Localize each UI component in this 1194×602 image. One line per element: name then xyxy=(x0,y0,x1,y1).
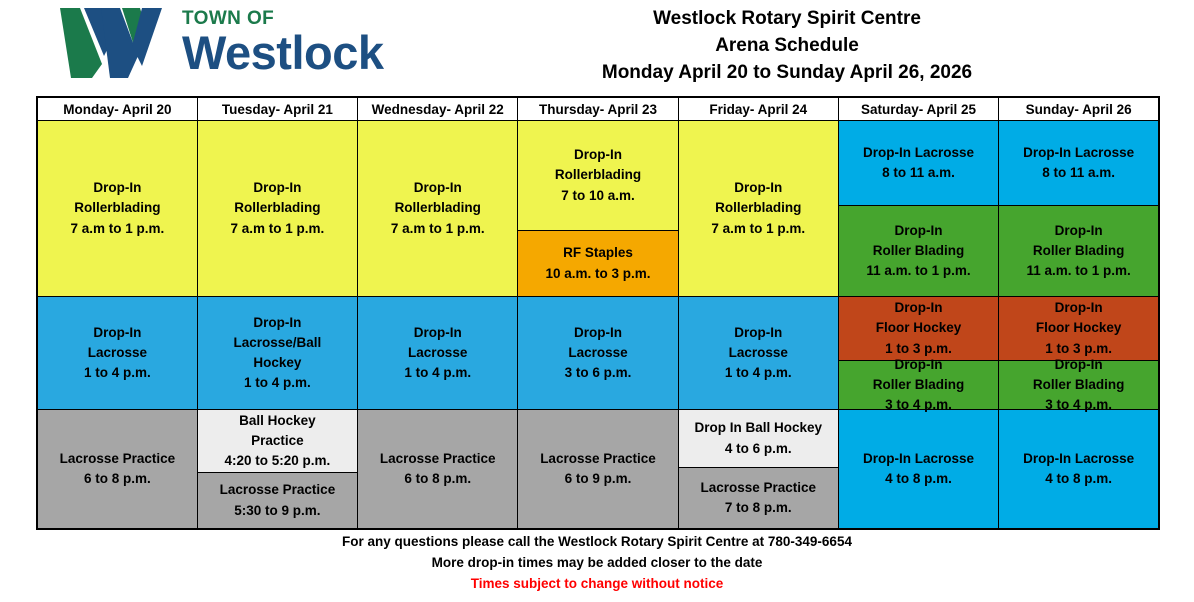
schedule-event[interactable]: Lacrosse Practice6 to 9 p.m. xyxy=(518,410,677,528)
table-row: Lacrosse Practice6 to 8 p.m.Ball HockeyP… xyxy=(37,410,1159,530)
event-line: RF Staples xyxy=(563,243,633,263)
column-header-2: Wednesday- April 22 xyxy=(358,97,518,121)
column-header-0: Monday- April 20 xyxy=(37,97,197,121)
event-line: Drop-In xyxy=(414,178,462,198)
column-header-6: Sunday- April 26 xyxy=(999,97,1159,121)
event-line: Drop-In Lacrosse xyxy=(1023,449,1134,469)
schedule-cell-r0-c1[interactable]: Drop-InRollerblading7 a.m to 1 p.m. xyxy=(197,121,357,297)
event-line: Drop-In xyxy=(1055,355,1103,375)
schedule-event[interactable]: Drop-InFloor Hockey1 to 3 p.m. xyxy=(999,297,1158,361)
event-line: Lacrosse xyxy=(729,343,788,363)
event-line: 3 to 4 p.m. xyxy=(1045,395,1112,415)
event-line: Drop-In Lacrosse xyxy=(863,143,974,163)
schedule-event[interactable]: Drop-InRoller Blading3 to 4 p.m. xyxy=(839,361,998,409)
footer-line-0: For any questions please call the Westlo… xyxy=(0,532,1194,553)
schedule-table: Monday- April 20Tuesday- April 21Wednesd… xyxy=(36,96,1160,530)
event-line: Drop-In xyxy=(734,178,782,198)
schedule-event[interactable]: Lacrosse Practice7 to 8 p.m. xyxy=(679,468,838,528)
footer-line-1: More drop-in times may be added closer t… xyxy=(0,553,1194,574)
event-line: Roller Blading xyxy=(1033,241,1125,261)
event-line: Drop-In xyxy=(895,221,943,241)
column-header-3: Thursday- April 23 xyxy=(518,97,678,121)
event-line: Lacrosse Practice xyxy=(700,478,816,498)
table-header-row: Monday- April 20Tuesday- April 21Wednesd… xyxy=(37,97,1159,121)
event-line: 7 to 10 a.m. xyxy=(561,186,635,206)
event-line: 1 to 4 p.m. xyxy=(725,363,792,383)
event-line: Rollerblading xyxy=(234,198,320,218)
schedule-cell-r1-c5[interactable]: Drop-InFloor Hockey1 to 3 p.m.Drop-InRol… xyxy=(838,297,998,410)
event-line: Drop-In xyxy=(895,298,943,318)
schedule-event[interactable]: Drop-InRoller Blading11 a.m. to 1 p.m. xyxy=(839,206,998,296)
schedule-cell-r1-c4[interactable]: Drop-InLacrosse1 to 4 p.m. xyxy=(678,297,838,410)
table-row: Drop-InRollerblading7 a.m to 1 p.m.Drop-… xyxy=(37,121,1159,297)
arena-schedule-page: TOWN OF Westlock Westlock Rotary Spirit … xyxy=(0,0,1194,602)
town-of-westlock-logo: TOWN OF Westlock xyxy=(0,0,420,78)
schedule-event[interactable]: Drop-In Lacrosse4 to 8 p.m. xyxy=(839,410,998,528)
schedule-cell-r1-c1[interactable]: Drop-InLacrosse/BallHockey1 to 4 p.m. xyxy=(197,297,357,410)
schedule-event[interactable]: Drop-InLacrosse1 to 4 p.m. xyxy=(358,297,517,409)
event-line: Hockey xyxy=(253,353,301,373)
event-line: 4 to 8 p.m. xyxy=(885,469,952,489)
event-line: Ball Hockey xyxy=(239,411,316,431)
schedule-event[interactable]: Drop-InFloor Hockey1 to 3 p.m. xyxy=(839,297,998,361)
logo-wordmark: TOWN OF Westlock xyxy=(182,9,384,76)
event-line: Floor Hockey xyxy=(876,318,962,338)
schedule-event[interactable]: Drop-In Lacrosse4 to 8 p.m. xyxy=(999,410,1158,528)
schedule-event[interactable]: Drop-In Lacrosse8 to 11 a.m. xyxy=(839,121,998,206)
event-line: Lacrosse Practice xyxy=(380,449,496,469)
event-line: Drop-In xyxy=(734,323,782,343)
page-title: Westlock Rotary Spirit Centre Arena Sche… xyxy=(420,0,1194,87)
schedule-cell-r0-c4[interactable]: Drop-InRollerblading7 a.m to 1 p.m. xyxy=(678,121,838,297)
westlock-w-logo-icon xyxy=(58,6,170,78)
event-line: Drop-In xyxy=(93,323,141,343)
title-line-daterange: Monday April 20 to Sunday April 26, 2026 xyxy=(420,60,1154,87)
event-line: Lacrosse xyxy=(568,343,627,363)
schedule-event[interactable]: Drop-InRoller Blading3 to 4 p.m. xyxy=(999,361,1158,409)
event-line: 3 to 6 p.m. xyxy=(565,363,632,383)
event-line: Drop-In xyxy=(574,145,622,165)
footer-line-2: Times subject to change without notice xyxy=(0,574,1194,595)
event-line: 6 to 8 p.m. xyxy=(404,469,471,489)
event-line: Roller Blading xyxy=(873,375,965,395)
event-line: 5:30 to 9 p.m. xyxy=(234,501,320,521)
schedule-cell-r2-c0[interactable]: Lacrosse Practice6 to 8 p.m. xyxy=(37,410,197,530)
column-header-4: Friday- April 24 xyxy=(678,97,838,121)
event-line: 10 a.m. to 3 p.m. xyxy=(545,264,650,284)
column-header-1: Tuesday- April 21 xyxy=(197,97,357,121)
schedule-event[interactable]: Drop-InLacrosse1 to 4 p.m. xyxy=(38,297,197,409)
logo-name-label: Westlock xyxy=(182,29,384,76)
schedule-cell-r2-c6[interactable]: Drop-In Lacrosse4 to 8 p.m. xyxy=(999,410,1159,530)
title-line-facility: Westlock Rotary Spirit Centre xyxy=(420,6,1154,33)
event-line: 11 a.m. to 1 p.m. xyxy=(1026,261,1130,281)
schedule-event[interactable]: Lacrosse Practice5:30 to 9 p.m. xyxy=(198,473,357,528)
event-line: Drop-In xyxy=(253,178,301,198)
event-line: Drop-In xyxy=(253,313,301,333)
event-line: Practice xyxy=(251,431,304,451)
event-line: Rollerblading xyxy=(74,198,160,218)
event-line: Lacrosse Practice xyxy=(220,480,336,500)
schedule-event[interactable]: RF Staples10 a.m. to 3 p.m. xyxy=(518,231,677,296)
title-line-subtitle: Arena Schedule xyxy=(420,33,1154,60)
schedule-event[interactable]: Lacrosse Practice6 to 8 p.m. xyxy=(358,410,517,528)
table-row: Drop-InLacrosse1 to 4 p.m.Drop-InLacross… xyxy=(37,297,1159,410)
schedule-event[interactable]: Drop-InRoller Blading11 a.m. to 1 p.m. xyxy=(999,206,1158,296)
event-line: 4:20 to 5:20 p.m. xyxy=(225,451,331,471)
event-line: 7 to 8 p.m. xyxy=(725,498,792,518)
event-line: 7 a.m to 1 p.m. xyxy=(231,219,325,239)
column-header-5: Saturday- April 25 xyxy=(838,97,998,121)
event-line: Lacrosse Practice xyxy=(60,449,176,469)
schedule-event[interactable]: Drop-InLacrosse3 to 6 p.m. xyxy=(518,297,677,409)
schedule-event[interactable]: Lacrosse Practice6 to 8 p.m. xyxy=(38,410,197,528)
event-line: 7 a.m to 1 p.m. xyxy=(711,219,805,239)
schedule-event[interactable]: Drop-InLacrosse/BallHockey1 to 4 p.m. xyxy=(198,297,357,409)
schedule-event[interactable]: Drop-InRollerblading7 a.m to 1 p.m. xyxy=(198,121,357,296)
schedule-cell-r1-c0[interactable]: Drop-InLacrosse1 to 4 p.m. xyxy=(37,297,197,410)
event-line: 8 to 11 a.m. xyxy=(1042,163,1115,183)
schedule-cell-r1-c3[interactable]: Drop-InLacrosse3 to 6 p.m. xyxy=(518,297,678,410)
event-line: 3 to 4 p.m. xyxy=(885,395,952,415)
page-header: TOWN OF Westlock Westlock Rotary Spirit … xyxy=(0,0,1194,96)
schedule-event[interactable]: Drop-InLacrosse1 to 4 p.m. xyxy=(679,297,838,409)
event-line: Drop-In xyxy=(574,323,622,343)
event-line: Roller Blading xyxy=(1033,375,1125,395)
schedule-event[interactable]: Drop-InRollerblading7 a.m to 1 p.m. xyxy=(38,121,197,296)
event-line: Drop In Ball Hockey xyxy=(694,418,822,438)
event-line: Drop-In xyxy=(93,178,141,198)
event-line: Drop-In Lacrosse xyxy=(863,449,974,469)
event-line: 7 a.m to 1 p.m. xyxy=(391,219,485,239)
schedule-event[interactable]: Drop-In Lacrosse8 to 11 a.m. xyxy=(999,121,1158,206)
event-line: Drop-In xyxy=(1055,221,1103,241)
event-line: 1 to 4 p.m. xyxy=(404,363,471,383)
schedule-cell-r0-c6[interactable]: Drop-In Lacrosse8 to 11 a.m.Drop-InRolle… xyxy=(999,121,1159,297)
event-line: Drop-In xyxy=(1055,298,1103,318)
event-line: 4 to 6 p.m. xyxy=(725,439,792,459)
event-line: 6 to 8 p.m. xyxy=(84,469,151,489)
event-line: Floor Hockey xyxy=(1036,318,1122,338)
schedule-cell-r0-c0[interactable]: Drop-InRollerblading7 a.m to 1 p.m. xyxy=(37,121,197,297)
event-line: 1 to 4 p.m. xyxy=(84,363,151,383)
event-line: Drop-In xyxy=(414,323,462,343)
event-line: 4 to 8 p.m. xyxy=(1045,469,1112,489)
schedule-event[interactable]: Drop-InRollerblading7 to 10 a.m. xyxy=(518,121,677,231)
schedule-cell-r1-c6[interactable]: Drop-InFloor Hockey1 to 3 p.m.Drop-InRol… xyxy=(999,297,1159,410)
schedule-event[interactable]: Drop-InRollerblading7 a.m to 1 p.m. xyxy=(679,121,838,296)
event-line: Lacrosse xyxy=(408,343,467,363)
schedule-cell-r2-c4[interactable]: Drop In Ball Hockey4 to 6 p.m.Lacrosse P… xyxy=(678,410,838,530)
event-line: Rollerblading xyxy=(715,198,801,218)
schedule-cell-r0-c3[interactable]: Drop-InRollerblading7 to 10 a.m.RF Stapl… xyxy=(518,121,678,297)
event-line: 7 a.m to 1 p.m. xyxy=(71,219,165,239)
event-line: Drop-In xyxy=(895,355,943,375)
event-line: 11 a.m. to 1 p.m. xyxy=(866,261,970,281)
event-line: Drop-In Lacrosse xyxy=(1023,143,1134,163)
schedule-cell-r1-c2[interactable]: Drop-InLacrosse1 to 4 p.m. xyxy=(358,297,518,410)
event-line: 8 to 11 a.m. xyxy=(882,163,955,183)
page-footer: For any questions please call the Westlo… xyxy=(0,532,1194,595)
event-line: Rollerblading xyxy=(555,165,641,185)
event-line: Lacrosse/Ball xyxy=(234,333,322,353)
schedule-event[interactable]: Drop-InRollerblading7 a.m to 1 p.m. xyxy=(358,121,517,296)
event-line: 6 to 9 p.m. xyxy=(565,469,632,489)
event-line: Lacrosse xyxy=(88,343,147,363)
schedule-event[interactable]: Drop In Ball Hockey4 to 6 p.m. xyxy=(679,410,838,468)
schedule-cell-r2-c3[interactable]: Lacrosse Practice6 to 9 p.m. xyxy=(518,410,678,530)
event-line: Roller Blading xyxy=(873,241,965,261)
schedule-table-wrapper: Monday- April 20Tuesday- April 21Wednesd… xyxy=(36,96,1160,530)
schedule-cell-r2-c5[interactable]: Drop-In Lacrosse4 to 8 p.m. xyxy=(838,410,998,530)
schedule-cell-r0-c5[interactable]: Drop-In Lacrosse8 to 11 a.m.Drop-InRolle… xyxy=(838,121,998,297)
schedule-cell-r2-c1[interactable]: Ball HockeyPractice4:20 to 5:20 p.m.Lacr… xyxy=(197,410,357,530)
schedule-cell-r0-c2[interactable]: Drop-InRollerblading7 a.m to 1 p.m. xyxy=(358,121,518,297)
schedule-event[interactable]: Ball HockeyPractice4:20 to 5:20 p.m. xyxy=(198,410,357,473)
logo-town-label: TOWN OF xyxy=(182,9,384,28)
event-line: Lacrosse Practice xyxy=(540,449,656,469)
event-line: 1 to 4 p.m. xyxy=(244,373,311,393)
event-line: Rollerblading xyxy=(395,198,481,218)
schedule-cell-r2-c2[interactable]: Lacrosse Practice6 to 8 p.m. xyxy=(358,410,518,530)
